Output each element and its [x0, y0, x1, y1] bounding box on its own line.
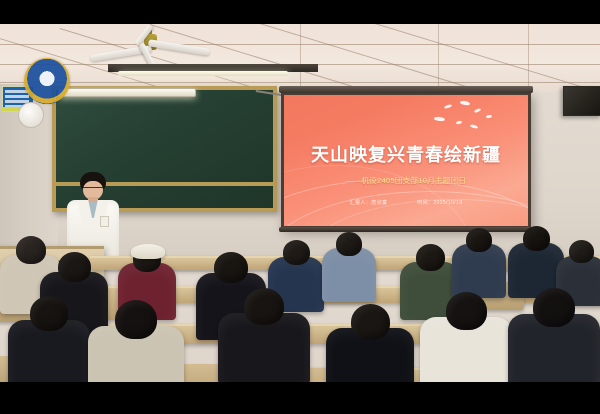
university-emblem-icon: [24, 58, 70, 104]
audience-member: [420, 292, 512, 382]
photo-scene: 天山映复兴青春绘新疆 ——机设2405团支部10月主题团日 汇报人：唐欣童 时间…: [0, 0, 600, 414]
wall-speaker-icon: [563, 86, 600, 116]
bird-icon: [444, 104, 453, 109]
audience-head: [446, 292, 487, 330]
audience-head: [416, 244, 445, 271]
audience-member: [218, 288, 310, 382]
audience-torso: [452, 244, 506, 298]
audience-member: [88, 300, 184, 382]
audience-head: [244, 288, 284, 325]
audience-head: [58, 252, 91, 282]
audience-member: [322, 232, 376, 302]
slide-date-label: 时间：2025/10/19: [417, 200, 462, 206]
audience-head: [214, 252, 248, 283]
slide-meta: 汇报人：唐欣童 时间：2025/10/19: [284, 199, 528, 206]
slide-title: 天山映复兴青春绘新疆: [284, 141, 528, 167]
audience-head: [351, 304, 390, 340]
cap-icon: [131, 244, 165, 259]
wall-clock-icon: [18, 102, 44, 128]
projection-screen-housing: [279, 86, 533, 93]
audience-head: [523, 226, 550, 251]
slide-subtitle: ——机设2405团支部10月主题团日: [284, 175, 528, 186]
bird-icon: [460, 100, 471, 106]
bird-icon: [456, 120, 463, 124]
audience-head: [30, 296, 68, 331]
audience-head: [466, 228, 492, 252]
audience-member: [508, 288, 600, 382]
bird-icon: [434, 116, 445, 121]
audience-head: [533, 288, 575, 327]
blackboard-lamp-icon: [58, 88, 196, 97]
presenter-badge: [100, 216, 109, 227]
classroom: 天山映复兴青春绘新疆 ——机设2405团支部10月主题团日 汇报人：唐欣童 时间…: [0, 24, 600, 382]
audience-head: [115, 300, 157, 339]
audience-member: [326, 304, 414, 382]
letterbox-top: [0, 0, 600, 24]
audience-torso: [322, 248, 376, 302]
bird-icon: [486, 115, 492, 119]
slide-presenter-label: 汇报人：唐欣童: [350, 200, 388, 206]
audience-member: [8, 296, 90, 382]
glasses-icon: [83, 187, 103, 192]
fluorescent-lamp-icon: [118, 71, 288, 76]
letterbox-bottom: [0, 382, 600, 414]
audience-member: [452, 228, 506, 298]
audience-head: [336, 232, 362, 256]
bird-icon: [474, 108, 482, 113]
projection-screen: 天山映复兴青春绘新疆 ——机设2405团支部10月主题团日 汇报人：唐欣童 时间…: [281, 92, 531, 229]
audience-head: [283, 240, 310, 265]
audience-head: [569, 240, 594, 263]
bird-icon: [470, 124, 479, 129]
